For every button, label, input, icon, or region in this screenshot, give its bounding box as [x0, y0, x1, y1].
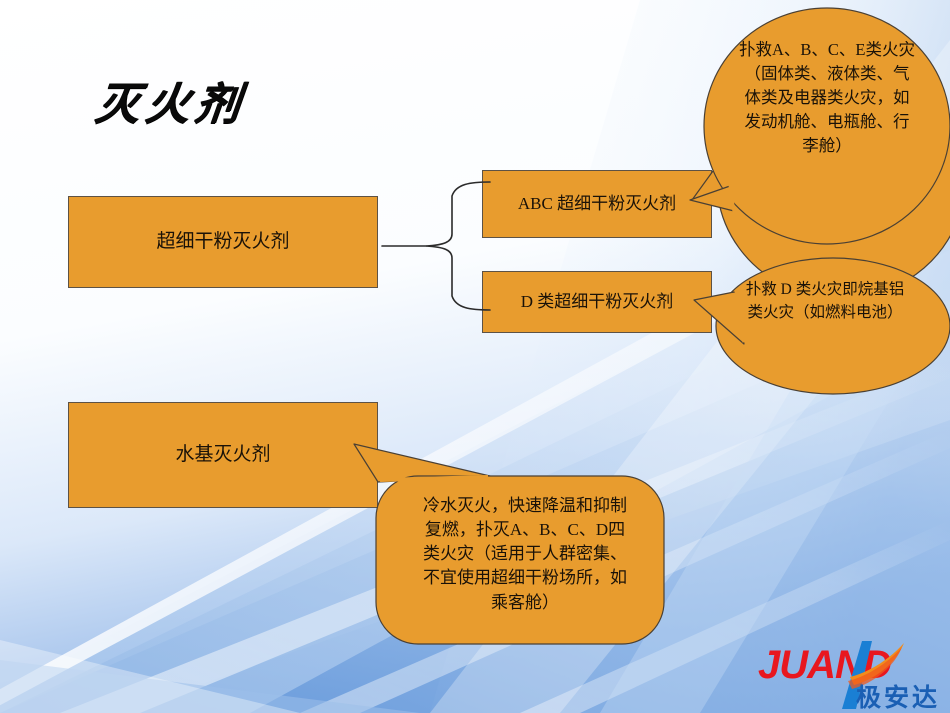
box-water-based-extinguisher[interactable]: 水基灭火剂	[68, 402, 378, 508]
logo-chinese-name: 极安达	[856, 686, 940, 711]
brand-logo: JUAND 极安达	[754, 641, 944, 711]
callout-d-class-fire[interactable]: 扑救 D 类火灾即烷基铝类火灾（如燃料电池）	[700, 252, 950, 400]
box-d-class-ultrafine-dry-powder[interactable]: D 类超细干粉灭火剂	[482, 271, 712, 333]
box-ultrafine-dry-powder[interactable]: 超细干粉灭火剂	[68, 196, 378, 288]
callout-abc-text: 扑救A、B、C、E类火灾（固体类、液体类、气体类及电器类火灾，如发动机舱、电瓶舱…	[738, 38, 916, 158]
slide-canvas: 灭火剂 超细干粉灭火剂 ABC 超细干粉灭火剂 D 类超细干粉灭火剂 水基灭火剂…	[0, 0, 950, 713]
callout-d-text: 扑救 D 类火灾即烷基铝类火灾（如燃料电池）	[744, 278, 906, 325]
callout-water-based[interactable]: 冷水灭火，快速降温和抑制复燃，扑灭A、B、C、D四类火灾（适用于人群密集、不宜使…	[372, 452, 670, 648]
box-abc-ultrafine-dry-powder[interactable]: ABC 超细干粉灭火剂	[482, 170, 712, 238]
callout-abc-fire-classes[interactable]: 扑救A、B、C、E类火灾（固体类、液体类、气体类及电器类火灾，如发动机舱、电瓶舱…	[704, 4, 950, 248]
page-title: 灭火剂	[93, 68, 250, 132]
curly-brace-connector	[378, 178, 496, 314]
callout-water-text: 冷水灭火，快速降温和抑制复燃，扑灭A、B、C、D四类火灾（适用于人群密集、不宜使…	[420, 494, 630, 615]
